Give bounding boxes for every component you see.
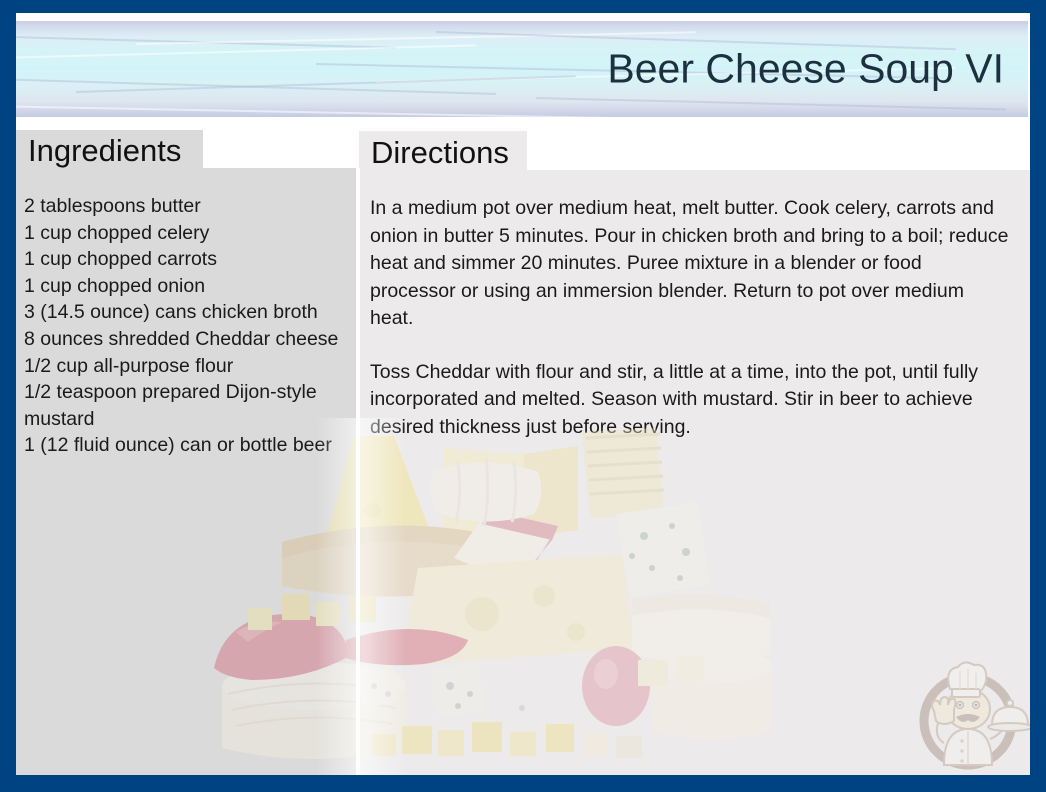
ingredient-item: 3 (14.5 ounce) cans chicken broth — [24, 299, 354, 326]
directions-body: In a medium pot over medium heat, melt b… — [370, 195, 1010, 467]
ingredients-heading: Ingredients — [28, 133, 181, 169]
chef-with-platter-logo — [904, 649, 1030, 775]
ingredient-item: 1 cup chopped onion — [24, 273, 354, 300]
page-title: Beer Cheese Soup VI — [607, 46, 1004, 93]
ingredient-item: 8 ounces shredded Cheddar cheese — [24, 326, 354, 353]
ingredients-list: 2 tablespoons butter1 cup chopped celery… — [24, 193, 354, 459]
recipe-card: Beer Cheese Soup VI Ingredients 2 tables… — [0, 0, 1046, 792]
recipe-page: Beer Cheese Soup VI Ingredients 2 tables… — [16, 13, 1030, 775]
panel-divider — [356, 168, 360, 775]
ingredient-item: 1/2 cup all-purpose flour — [24, 353, 354, 380]
ingredient-item: 1 cup chopped celery — [24, 220, 354, 247]
ingredient-item: 2 tablespoons butter — [24, 193, 354, 220]
directions-heading: Directions — [371, 135, 509, 171]
ingredient-item: 1/2 teaspoon prepared Dijon-style mustar… — [24, 379, 354, 432]
direction-paragraph: Toss Cheddar with flour and stir, a litt… — [370, 359, 1010, 442]
direction-paragraph: In a medium pot over medium heat, melt b… — [370, 195, 1010, 333]
ingredient-item: 1 cup chopped carrots — [24, 246, 354, 273]
ingredient-item: 1 (12 fluid ounce) can or bottle beer — [24, 432, 354, 459]
title-banner: Beer Cheese Soup VI — [16, 21, 1028, 117]
